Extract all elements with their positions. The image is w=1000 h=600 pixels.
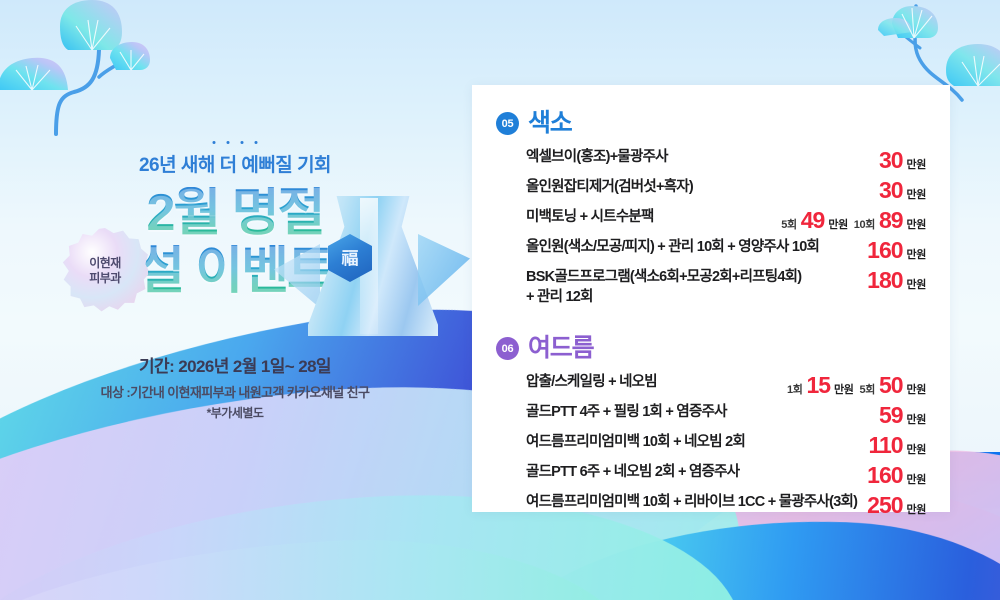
price-group: 160만원 [867,239,926,262]
price-value: 180 [867,269,902,292]
price-unit: 만원 [907,246,926,262]
price-unit: 만원 [907,216,926,232]
price-group-wrap: 250만원 [867,493,926,517]
price-session-count: 1회 [787,381,802,397]
price-group-wrap: 160만원 [867,238,926,262]
price-row: 여드름프리미엄미백 10회 + 네오빔 2회110만원 [526,430,926,460]
price-row-name: 엑셀브이(홍조)+물광주사 [526,148,871,168]
price-group-wrap: 30만원 [879,148,926,172]
price-group: 30만원 [879,149,926,172]
price-row: 골드PTT 6주 + 네오빔 2회 + 염증주사160만원 [526,460,926,490]
clinic-seal-line-2: 피부과 [89,271,121,286]
section-06-rows: 압출/스케일링 + 네오빔1회15만원5회50만원골드PTT 4주 + 필링 1… [496,370,926,520]
price-group: 110만원 [868,434,926,457]
promo-period: 기간: 2026년 2월 1일~ 28일 [0,352,470,377]
price-group: 59만원 [879,404,926,427]
price-value: 49 [801,209,825,232]
price-group: 180만원 [867,269,926,292]
section-05-rows: 엑셀브이(홍조)+물광주사30만원올인원잡티제거(검버섯+흑자)30만원미백토닝… [496,145,926,310]
price-group: 10회89만원 [854,209,926,232]
price-group-wrap: 59만원 [879,403,926,427]
price-value: 50 [879,374,903,397]
price-group-wrap: 180만원 [867,268,926,292]
price-group: 5회49만원 [781,209,848,232]
price-unit: 만원 [907,186,926,202]
section-05-header: 05 색소 [496,111,926,136]
price-row: 압출/스케일링 + 네오빔1회15만원5회50만원 [526,370,926,400]
section-06: 06 여드름 압출/스케일링 + 네오빔1회15만원5회50만원골드PTT 4주… [472,310,950,520]
price-group: 250만원 [867,494,926,517]
price-unit: 만원 [907,411,926,427]
price-row: 여드름프리미엄미백 10회 + 리바이브 1CC + 물광주사(3회)250만원 [526,490,926,520]
price-row: 골드PTT 4주 + 필링 1회 + 염증주사59만원 [526,400,926,430]
price-row-name: 올인원(색소/모공/피지) + 관리 10회 + 영양주사 10회 [526,238,859,258]
hanbok-illustration: 福 [300,192,470,342]
price-row-name: 여드름프리미엄미백 10회 + 리바이브 1CC + 물광주사(3회) [526,493,859,513]
price-row: 미백토닝 + 시트수분팩5회49만원10회89만원 [526,205,926,235]
section-06-title: 여드름 [528,336,593,361]
section-05-number-badge: 05 [496,112,519,135]
price-unit: 만원 [907,156,926,172]
price-value: 30 [879,179,903,202]
price-unit: 만원 [834,381,853,397]
price-value: 160 [867,464,902,487]
promo-tagline-wrap: 26년 새해 더 예뻐질 기회 [0,150,470,177]
price-group: 160만원 [867,464,926,487]
promo-tagline: 26년 새해 더 예뻐질 기회 [139,155,331,176]
price-session-count: 5회 [781,216,796,232]
price-row: BSK골드프로그램(색소6회+모공2회+리프팅4회) + 관리 12회180만원 [526,265,926,310]
promo-note: *부가세별도 [0,404,470,421]
price-group: 5회50만원 [860,374,927,397]
price-value: 110 [868,434,902,457]
price-group-wrap: 5회49만원10회89만원 [781,208,926,232]
price-unit: 만원 [907,501,926,517]
price-row-name: BSK골드프로그램(색소6회+모공2회+리프팅4회) + 관리 12회 [526,268,859,307]
price-group-wrap: 1회15만원5회50만원 [787,373,926,397]
promotional-banner: 26년 새해 더 예뻐질 기회 2월 명절 설 이벤트 이현재 피부과 福 기간… [0,0,1000,600]
pine-branch-icon [0,0,204,142]
price-group-wrap: 30만원 [879,178,926,202]
price-group-wrap: 160만원 [867,463,926,487]
price-group: 1회15만원 [787,374,854,397]
price-row-name: 압출/스케일링 + 네오빔 [526,373,779,393]
price-row-name: 골드PTT 4주 + 필링 1회 + 염증주사 [526,403,871,423]
price-row: 올인원(색소/모공/피지) + 관리 10회 + 영양주사 10회160만원 [526,235,926,265]
price-value: 160 [867,239,902,262]
price-session-count: 10회 [854,216,875,232]
price-unit: 만원 [907,441,926,457]
hanbok-right-wing [418,234,470,306]
promo-meta: 기간: 2026년 2월 1일~ 28일 대상 :기간내 이현재피부과 내원고객… [0,352,470,421]
price-row-name: 골드PTT 6주 + 네오빔 2회 + 염증주사 [526,463,859,483]
price-row-name: 올인원잡티제거(검버섯+흑자) [526,178,871,198]
price-session-count: 5회 [860,381,875,397]
price-list-card: 05 색소 엑셀브이(홍조)+물광주사30만원올인원잡티제거(검버섯+흑자)30… [472,85,950,512]
price-row: 엑셀브이(홍조)+물광주사30만원 [526,145,926,175]
price-row-name: 미백토닝 + 시트수분팩 [526,208,773,228]
price-group-wrap: 110만원 [868,433,926,457]
clinic-seal-text: 이현재 피부과 [89,256,121,286]
price-unit: 만원 [907,276,926,292]
price-row: 올인원잡티제거(검버섯+흑자)30만원 [526,175,926,205]
price-group: 30만원 [879,179,926,202]
fortune-character: 福 [342,250,359,267]
price-unit: 만원 [907,381,926,397]
price-unit: 만원 [907,471,926,487]
price-unit: 만원 [828,216,847,232]
tagline-dots-icon [213,141,258,144]
section-06-number-badge: 06 [496,337,519,360]
clinic-seal-line-1: 이현재 [89,256,121,271]
section-06-header: 06 여드름 [496,336,926,361]
price-value: 30 [879,149,903,172]
section-05-title: 색소 [528,111,572,136]
price-value: 250 [867,494,902,517]
price-value: 89 [879,209,903,232]
price-value: 59 [879,404,903,427]
price-row-name: 여드름프리미엄미백 10회 + 네오빔 2회 [526,433,860,453]
promo-target: 대상 :기간내 이현재피부과 내원고객 카카오채널 친구 [0,382,470,401]
price-value: 15 [806,374,830,397]
section-05: 05 색소 엑셀브이(홍조)+물광주사30만원올인원잡티제거(검버섯+흑자)30… [472,85,950,310]
